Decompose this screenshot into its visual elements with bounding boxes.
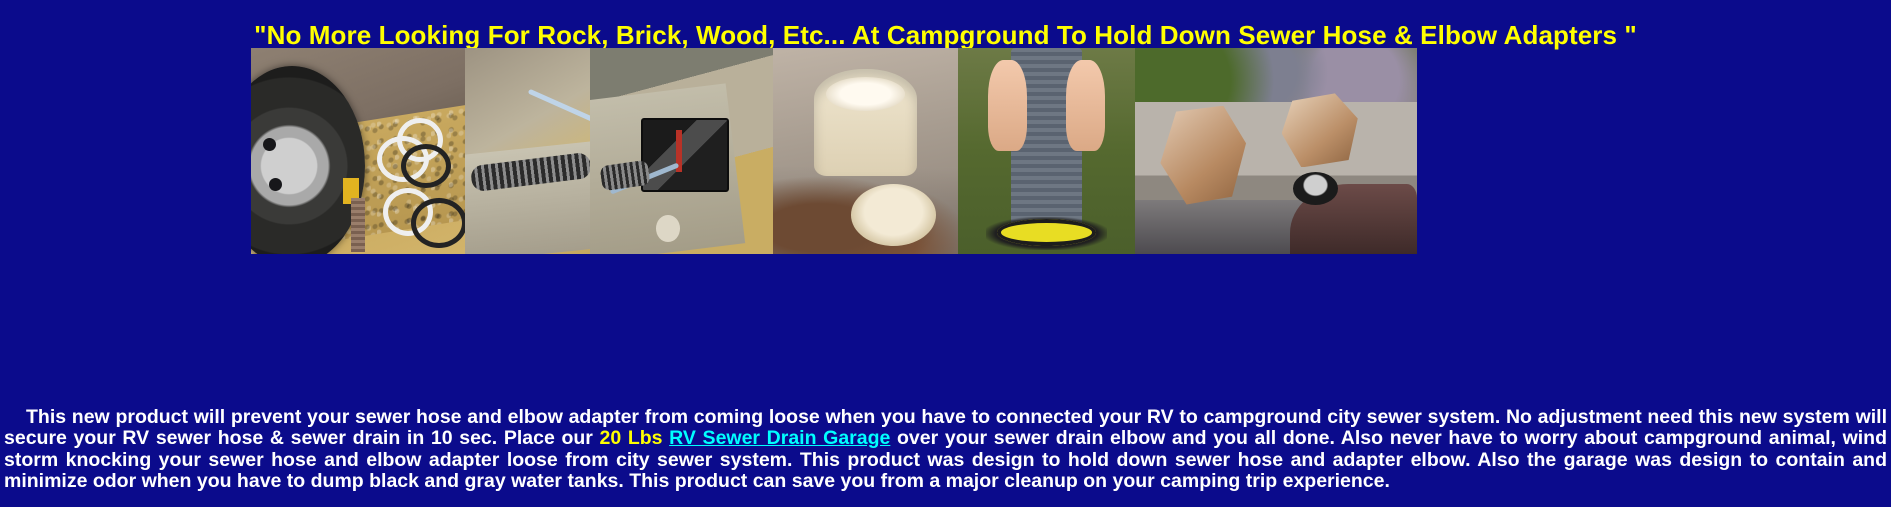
photo-trailer-jack-coiled-hose [465,48,590,254]
photo-1-black-hose-loop [401,144,451,188]
photo-5-yellow-ring [997,219,1096,246]
product-photo-strip [251,48,1417,254]
page-headline: "No More Looking For Rock, Brick, Wood, … [0,19,1891,51]
photo-6-shrubbery [1135,48,1417,102]
page-root: "No More Looking For Rock, Brick, Wood, … [0,0,1891,507]
photo-1-lug-nut [263,138,276,151]
photo-5-left-hand [988,60,1027,151]
photo-6-wet-driveway [1135,200,1310,254]
photo-3-white-cap [656,215,680,242]
photo-1-corrugated-hose [351,198,365,252]
photo-rv-wheel-sewer-hose-gravel [251,48,465,254]
photo-hands-placing-sewer-hose [958,48,1135,254]
photo-1-lug-nut [269,178,282,191]
photo-white-bucket-sewer-cap-wet-concrete [773,48,958,254]
photo-black-clamp-box-on-concrete [590,48,773,254]
weight-highlight: 20 Lbs [600,427,663,449]
rv-sewer-drain-garage-link[interactable]: RV Sewer Drain Garage [669,427,890,449]
photo-5-right-hand [1066,60,1105,151]
product-description-paragraph: This new product will prevent your sewer… [0,407,1891,493]
photo-6-drain-cap [1293,172,1338,205]
photo-3-black-garage-device [641,118,729,192]
photo-1-black-hose-loop [411,198,465,248]
photo-4-bucket-lid [851,184,936,246]
photo-rocks-holding-sewer-hose-driveway [1135,48,1417,254]
photo-4-white-bucket [814,69,918,176]
